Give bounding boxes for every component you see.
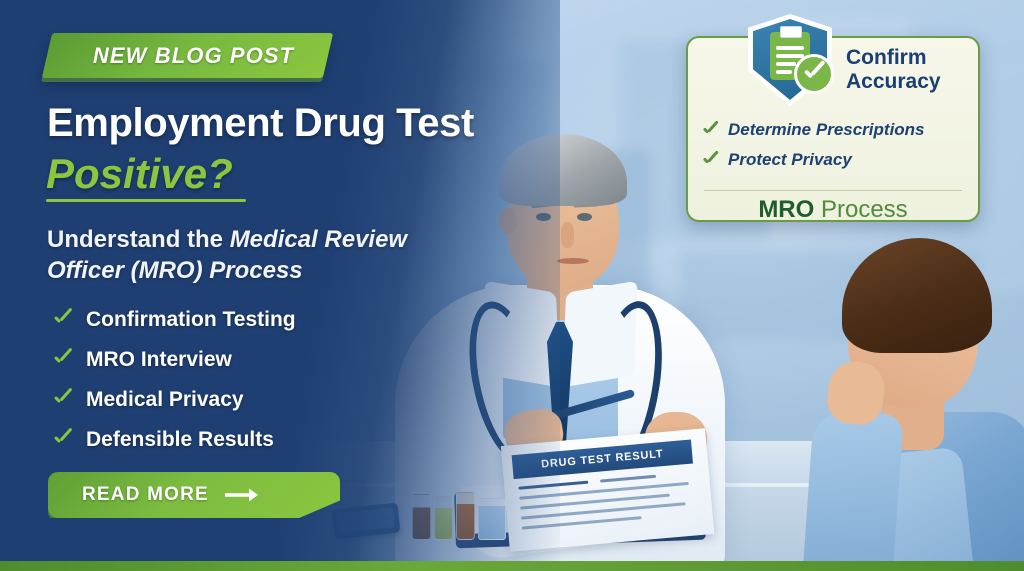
list-item-label: Protect Privacy xyxy=(728,150,852,170)
badge-label: NEW BLOG POST xyxy=(93,43,294,69)
page-title: Employment Drug Test xyxy=(47,102,517,144)
check-icon xyxy=(52,429,74,451)
blog-promo-banner: DRUG TEST RESULT NEW BLOG POST Employmen… xyxy=(0,0,1024,571)
check-badge-icon xyxy=(794,54,834,94)
clipboard-line xyxy=(776,62,796,66)
clipboard-line xyxy=(776,54,804,58)
list-item: MRO Interview xyxy=(52,348,296,372)
list-item: Protect Privacy xyxy=(702,150,972,170)
check-icon xyxy=(52,309,74,331)
card-divider xyxy=(704,190,962,191)
arrow-right-icon xyxy=(225,487,259,503)
clipboard-clip xyxy=(780,26,802,38)
card-footer-strong: MRO xyxy=(758,196,814,223)
card-title: Confirm Accuracy xyxy=(846,46,976,93)
check-icon xyxy=(702,121,720,139)
doctor-mouth xyxy=(557,258,589,264)
clipboard-line xyxy=(776,46,804,50)
patient-arm xyxy=(802,409,904,571)
list-item-label: Determine Prescriptions xyxy=(728,120,925,140)
check-icon xyxy=(52,389,74,411)
check-icon xyxy=(702,151,720,169)
list-item: Confirmation Testing xyxy=(52,308,296,332)
patient-hair xyxy=(842,238,992,353)
shield-clipboard-check-icon xyxy=(748,14,832,106)
new-blog-post-badge: NEW BLOG POST xyxy=(42,33,334,78)
list-item-label: MRO Interview xyxy=(86,348,232,372)
list-item-label: Defensible Results xyxy=(86,428,274,452)
bottom-accent-bar xyxy=(0,561,1024,571)
subheading-prefix: Understand the xyxy=(47,226,230,253)
list-item: Determine Prescriptions xyxy=(702,120,972,140)
list-item-label: Medical Privacy xyxy=(86,388,244,412)
patient-figure xyxy=(828,222,1024,571)
check-icon xyxy=(52,349,74,371)
page-title-highlight: Positive? xyxy=(46,150,233,198)
mro-info-card: Confirm Accuracy Determine Prescriptions… xyxy=(686,36,980,222)
read-more-button[interactable]: READ MORE xyxy=(48,472,340,518)
title-underline xyxy=(46,199,246,202)
subheading: Understand the Medical Review Officer (M… xyxy=(47,225,477,286)
read-more-label: READ MORE xyxy=(82,484,209,506)
card-footer-rest: Process xyxy=(814,196,907,223)
list-item: Medical Privacy xyxy=(52,388,296,412)
doctor-nose xyxy=(561,222,574,248)
feature-list: Confirmation Testing MRO Interview Medic… xyxy=(52,308,296,468)
card-footer: MRO Process xyxy=(688,196,978,224)
clipboard-line xyxy=(776,70,792,74)
card-feature-list: Determine Prescriptions Protect Privacy xyxy=(702,120,972,180)
list-item-label: Confirmation Testing xyxy=(86,308,296,332)
doctor-eye xyxy=(577,213,592,221)
list-item: Defensible Results xyxy=(52,428,296,452)
document-line xyxy=(600,475,656,483)
